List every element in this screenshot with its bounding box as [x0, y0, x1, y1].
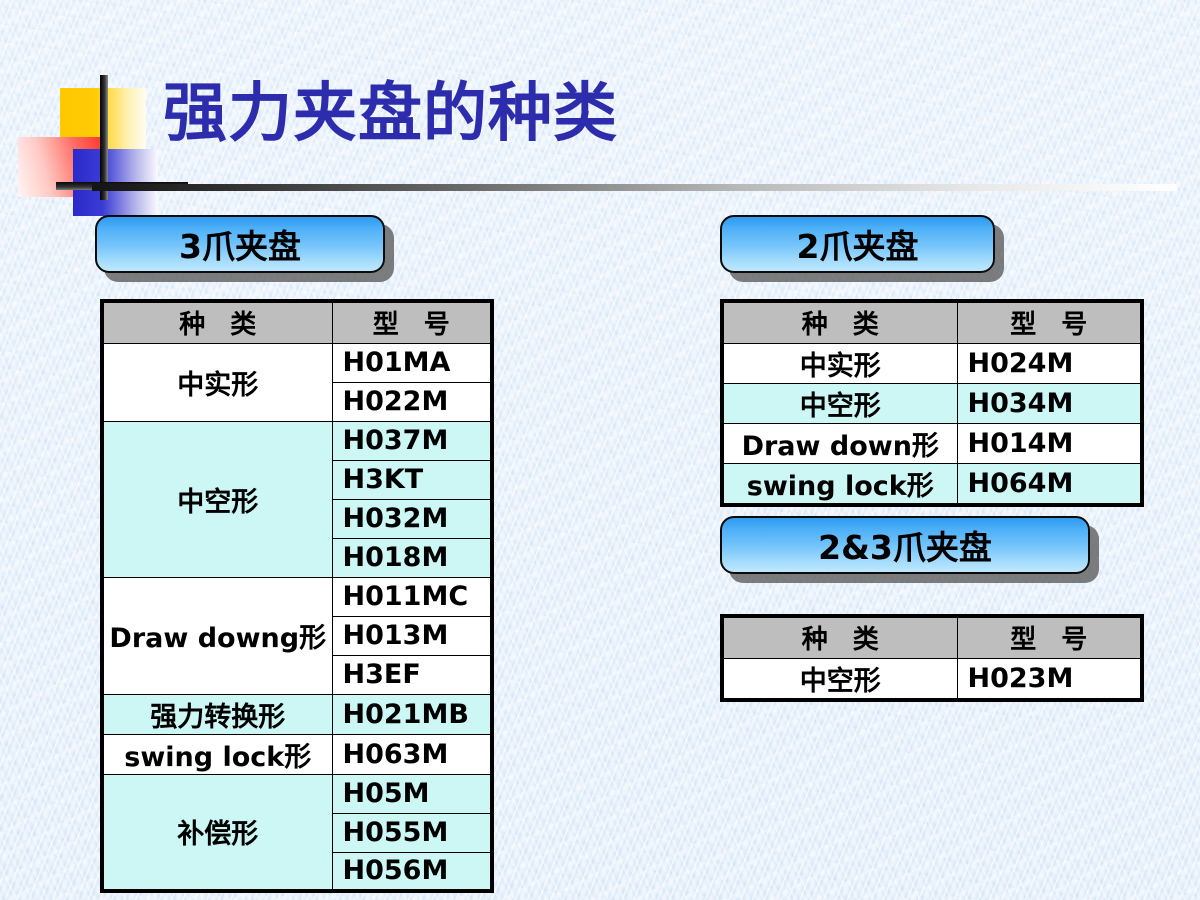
page-title: 强力夹盘的种类 — [163, 82, 618, 146]
cell-model: H055M — [332, 813, 492, 852]
column-header-model: 型 号 — [957, 616, 1142, 658]
cell-model: H022M — [332, 382, 492, 421]
table-header-row: 种 类 型 号 — [722, 616, 1142, 658]
cell-category: Draw down形 — [722, 423, 957, 463]
cell-model: H037M — [332, 421, 492, 460]
cell-category: swing lock形 — [722, 463, 957, 505]
cell-model: H063M — [332, 734, 492, 774]
table-row: 补偿形H05M — [102, 774, 492, 813]
table-row: Draw downg形H011MC — [102, 577, 492, 616]
cell-category: 中实形 — [102, 343, 332, 421]
section-header-three-jaw[interactable]: 3爪夹盘 — [95, 215, 385, 273]
table-body-two-jaw: 中实形H024M中空形H034MDraw down形H014Mswing loc… — [722, 343, 1142, 505]
table-body-three-jaw: 中实形H01MAH022M中空形H037MH3KTH032MH018MDraw … — [102, 343, 492, 891]
column-header-model: 型 号 — [332, 301, 492, 343]
table-row: Draw down形H014M — [722, 423, 1142, 463]
cell-model: H056M — [332, 852, 492, 891]
cell-model: H023M — [957, 658, 1142, 700]
cell-category: 中空形 — [102, 421, 332, 577]
table-two-and-three-jaw: 种 类 型 号 中空形H023M — [720, 614, 1144, 702]
cell-model: H011MC — [332, 577, 492, 616]
slide-canvas: 强力夹盘的种类 3爪夹盘 2爪夹盘 2&3爪夹盘 种 类 型 号 中实形H01M… — [0, 0, 1200, 900]
table-three-jaw: 种 类 型 号 中实形H01MAH022M中空形H037MH3KTH032MH0… — [100, 299, 494, 893]
cell-model: H021MB — [332, 694, 492, 734]
table-row: 中空形H037M — [102, 421, 492, 460]
cell-model: H032M — [332, 499, 492, 538]
cell-model: H3KT — [332, 460, 492, 499]
cell-category: 中空形 — [722, 658, 957, 700]
cell-category: swing lock形 — [102, 734, 332, 774]
cell-category: 中空形 — [722, 383, 957, 423]
column-header-category: 种 类 — [102, 301, 332, 343]
table-row: swing lock形H064M — [722, 463, 1142, 505]
cell-category: 补偿形 — [102, 774, 332, 891]
table-row: 中空形H023M — [722, 658, 1142, 700]
cell-model: H024M — [957, 343, 1142, 383]
table-two-jaw: 种 类 型 号 中实形H024M中空形H034MDraw down形H014Ms… — [720, 299, 1144, 507]
table-header-row: 种 类 型 号 — [722, 301, 1142, 343]
cell-category: Draw downg形 — [102, 577, 332, 694]
table-header-row: 种 类 型 号 — [102, 301, 492, 343]
table-row: swing lock形H063M — [102, 734, 492, 774]
cell-model: H034M — [957, 383, 1142, 423]
table-row: 中空形H034M — [722, 383, 1142, 423]
cell-model: H064M — [957, 463, 1142, 505]
column-header-model: 型 号 — [957, 301, 1142, 343]
cell-category: 强力转换形 — [102, 694, 332, 734]
table-row: 强力转换形H021MB — [102, 694, 492, 734]
cell-model: H01MA — [332, 343, 492, 382]
cell-model: H018M — [332, 538, 492, 577]
table-row: 中实形H024M — [722, 343, 1142, 383]
cell-model: H013M — [332, 616, 492, 655]
cell-category: 中实形 — [722, 343, 957, 383]
section-header-two-jaw[interactable]: 2爪夹盘 — [720, 215, 995, 273]
cell-model: H014M — [957, 423, 1142, 463]
table-row: 中实形H01MA — [102, 343, 492, 382]
title-underline-rule — [92, 184, 1177, 191]
table-body-two-and-three-jaw: 中空形H023M — [722, 658, 1142, 700]
cell-model: H3EF — [332, 655, 492, 694]
column-header-category: 种 类 — [722, 301, 957, 343]
section-header-two-and-three-jaw[interactable]: 2&3爪夹盘 — [720, 516, 1090, 574]
cell-model: H05M — [332, 774, 492, 813]
column-header-category: 种 类 — [722, 616, 957, 658]
